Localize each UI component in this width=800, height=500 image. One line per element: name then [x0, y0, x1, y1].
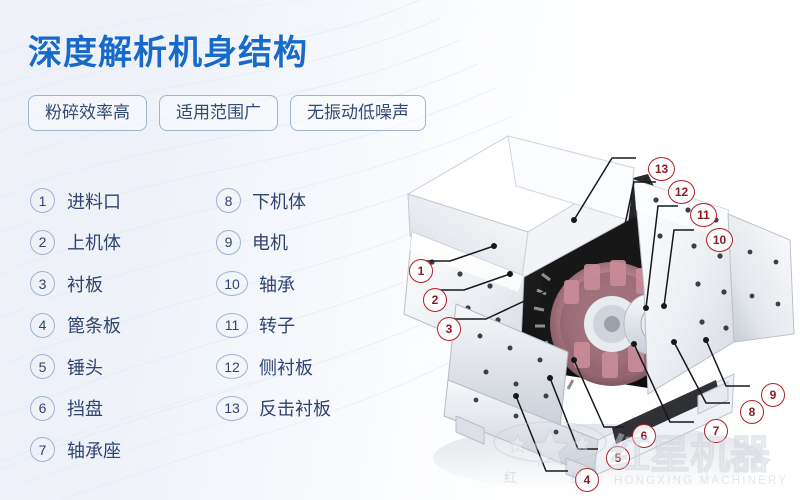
legend-item-7[interactable]: 7 轴承座	[30, 429, 121, 471]
feature-tag-list: 粉碎效率高 适用范围广 无振动低噪声	[28, 95, 426, 131]
callout-marker-5[interactable]: 5	[606, 446, 630, 470]
legend-item-9[interactable]: 9 电机	[216, 222, 331, 264]
callout-marker-8[interactable]: 8	[740, 400, 764, 424]
callout-marker-11[interactable]: 11	[690, 203, 717, 227]
callout-marker-12[interactable]: 12	[668, 180, 695, 204]
legend-item-4[interactable]: 4 篦条板	[30, 305, 121, 347]
feature-tag-0[interactable]: 粉碎效率高	[28, 95, 147, 131]
housing-far-wing	[728, 214, 794, 342]
legend-number-12: 12	[216, 354, 248, 379]
legend-label-12: 侧衬板	[259, 354, 313, 380]
legend-item-10[interactable]: 10 轴承	[216, 263, 331, 305]
legend-column-right: 8 下机体 9 电机 10 轴承 11 转子 12 侧衬板 13 反击衬板	[216, 180, 331, 429]
legend-label-2: 上机体	[67, 229, 121, 255]
callout-marker-7[interactable]: 7	[704, 419, 728, 443]
legend-label-9: 电机	[252, 229, 288, 255]
feature-tag-2[interactable]: 无振动低噪声	[290, 95, 426, 131]
legend-number-2: 2	[30, 230, 55, 255]
legend-item-13[interactable]: 13 反击衬板	[216, 388, 331, 430]
legend-number-9: 9	[216, 230, 241, 255]
legend-number-5: 5	[30, 354, 55, 379]
legend-item-5[interactable]: 5 锤头	[30, 346, 121, 388]
legend-number-13: 13	[216, 396, 248, 421]
callout-marker-1[interactable]: 1	[409, 259, 433, 283]
legend-label-1: 进料口	[67, 188, 121, 214]
legend-label-3: 衬板	[67, 271, 103, 297]
callout-marker-4[interactable]: 4	[575, 468, 599, 492]
legend-number-7: 7	[30, 437, 55, 462]
callout-marker-10[interactable]: 10	[706, 228, 733, 252]
legend-number-1: 1	[30, 188, 55, 213]
page-title: 深度解析机身结构	[28, 25, 308, 74]
legend-item-12[interactable]: 12 侧衬板	[216, 346, 331, 388]
legend-item-8[interactable]: 8 下机体	[216, 180, 331, 222]
legend-number-11: 11	[216, 313, 248, 338]
legend-number-3: 3	[30, 271, 55, 296]
legend-number-6: 6	[30, 396, 55, 421]
legend-item-2[interactable]: 2 上机体	[30, 222, 121, 264]
legend-column-left: 1 进料口 2 上机体 3 衬板 4 篦条板 5 锤头 6 挡盘	[30, 180, 121, 471]
legend-item-6[interactable]: 6 挡盘	[30, 388, 121, 430]
legend-label-13: 反击衬板	[259, 395, 331, 421]
callout-marker-3[interactable]: 3	[437, 317, 461, 341]
legend-number-10: 10	[216, 271, 248, 296]
legend-label-5: 锤头	[67, 354, 103, 380]
legend-label-6: 挡盘	[67, 395, 103, 421]
legend-label-4: 篦条板	[67, 312, 121, 338]
legend-label-7: 轴承座	[67, 437, 121, 463]
legend-label-8: 下机体	[252, 188, 306, 214]
callout-marker-9[interactable]: 9	[761, 383, 785, 407]
legend-label-11: 转子	[259, 312, 295, 338]
legend-item-1[interactable]: 1 进料口	[30, 180, 121, 222]
callout-marker-2[interactable]: 2	[423, 288, 447, 312]
legend-number-4: 4	[30, 313, 55, 338]
feature-tag-1[interactable]: 适用范围广	[159, 95, 278, 131]
callout-marker-13[interactable]: 13	[648, 157, 675, 181]
legend-item-3[interactable]: 3 衬板	[30, 263, 121, 305]
legend-number-8: 8	[216, 188, 241, 213]
crusher-machine-illustration	[398, 128, 800, 500]
callout-marker-6[interactable]: 6	[632, 424, 656, 448]
legend-item-11[interactable]: 11 转子	[216, 305, 331, 347]
promo-banner: 深度解析机身结构 粉碎效率高 适用范围广 无振动低噪声 1 进料口 2 上机体 …	[0, 0, 800, 500]
legend-label-10: 轴承	[259, 271, 295, 297]
